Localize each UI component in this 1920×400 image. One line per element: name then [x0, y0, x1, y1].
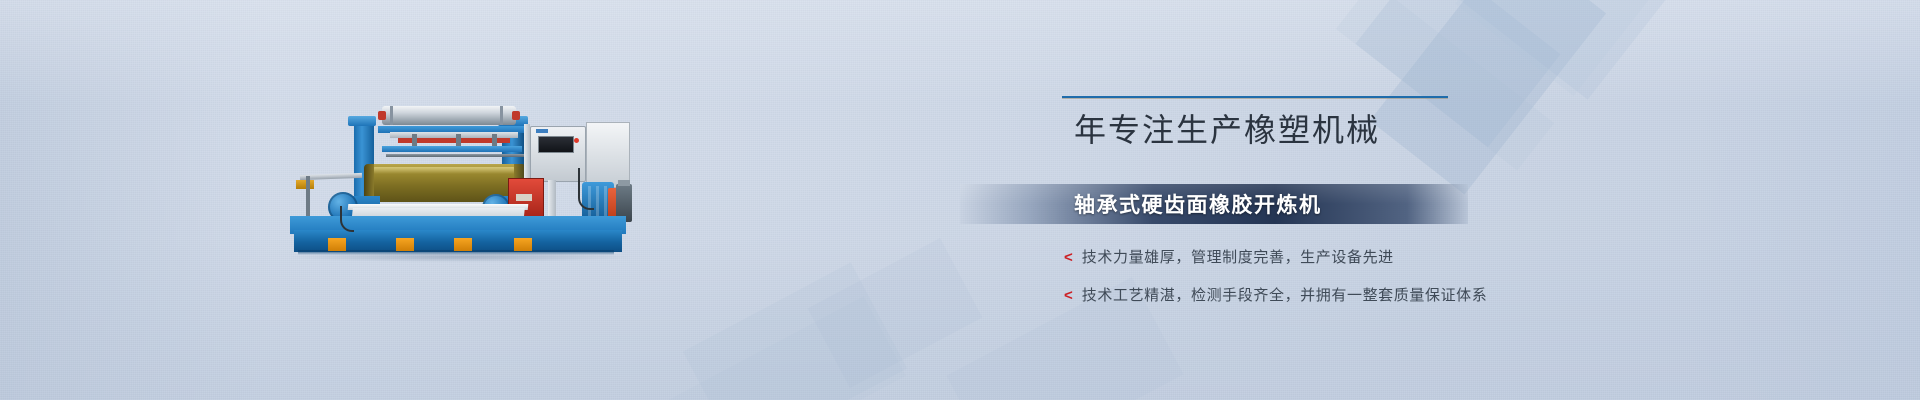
machine-roller-highlight: [372, 167, 516, 174]
machine-tie-rod: [386, 154, 526, 157]
product-title-text: 轴承式硬齿面橡胶开炼机: [1074, 189, 1322, 219]
product-image-rubber-mixing-mill: [286, 96, 632, 260]
machine-clamp: [492, 134, 497, 146]
machine-upper-roller-end: [378, 111, 386, 120]
feature-text: 技术力量雄厚，管理制度完善，生产设备先进: [1082, 248, 1394, 268]
machine-panel-display: [538, 136, 574, 153]
banner-copy-block: 年专注生产橡塑机械 轴承式硬齿面橡胶开炼机 < 技术力量雄厚，管理制度完善，生产…: [1060, 96, 1540, 149]
machine-gearbox-fin: [596, 186, 599, 220]
machine-upper-roller-band: [500, 106, 503, 125]
chevron-left-icon: <: [1064, 286, 1073, 306]
machine-nameplate: [516, 194, 532, 201]
machine-base-foot: [328, 238, 346, 251]
machine-clamp: [412, 134, 417, 146]
machine-base-foot: [396, 238, 414, 251]
machine-panel-indicator-lamp: [574, 138, 579, 143]
machine-motor-cap: [618, 180, 630, 186]
promotional-banner: 年专注生产橡塑机械 轴承式硬齿面橡胶开炼机 < 技术力量雄厚，管理制度完善，生产…: [0, 0, 1920, 400]
headline-divider-rule: [1062, 96, 1448, 99]
list-item: < 技术力量雄厚，管理制度完善，生产设备先进: [1064, 248, 1534, 268]
machine-panel-logo: [536, 129, 548, 133]
machine-left-frame-cap: [348, 116, 376, 126]
product-title-bar: 轴承式硬齿面橡胶开炼机: [960, 184, 1468, 224]
machine-upper-roller-end: [512, 111, 520, 120]
machine-gearbox-fin: [604, 186, 607, 220]
machine-crossbeam-lower: [382, 146, 522, 152]
machine-base-foot: [514, 238, 532, 251]
chevron-left-icon: <: [1064, 248, 1073, 268]
machine-cable: [578, 168, 594, 210]
feature-bullet-list: < 技术力量雄厚，管理制度完善，生产设备先进 < 技术工艺精湛，检测手段齐全，并…: [1064, 248, 1534, 324]
machine-upper-roller: [382, 106, 516, 125]
list-item: < 技术工艺精湛，检测手段齐全，并拥有一整套质量保证体系: [1064, 286, 1534, 306]
feature-text: 技术工艺精湛，检测手段齐全，并拥有一整套质量保证体系: [1082, 286, 1488, 306]
machine-base-foot: [454, 238, 472, 251]
machine-upper-roller-band: [390, 106, 393, 125]
machine-clamp: [456, 134, 461, 146]
banner-headline: 年专注生产橡塑机械: [1074, 111, 1540, 149]
machine-rail-stop: [296, 180, 314, 189]
